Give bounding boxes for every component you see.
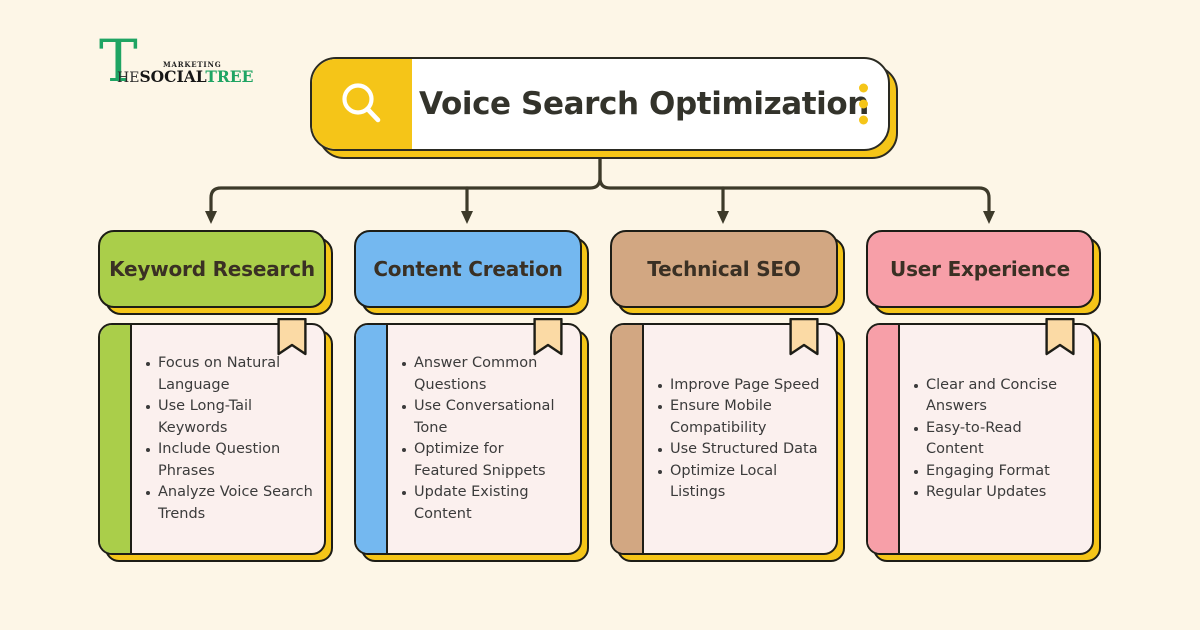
category-card[interactable]: User Experience (866, 230, 1101, 312)
search-icon-pane[interactable] (312, 59, 412, 149)
list-card: Improve Page Speed Ensure Mobile Compati… (610, 323, 845, 561)
category-card[interactable]: Technical SEO (610, 230, 845, 312)
list-spine (612, 325, 644, 553)
list-item: Include Question Phrases (158, 439, 314, 482)
arrow-head (205, 211, 217, 224)
header-body: Voice Search Optimization (310, 57, 890, 151)
logo-wordmark: HESOCIALTREE (117, 69, 253, 86)
list-item: Ensure Mobile Compatibility (670, 396, 826, 439)
list-item: Engaging Format (926, 461, 1082, 483)
logo-word-the: HE (117, 70, 139, 86)
category-label: Content Creation (373, 257, 562, 281)
list-item: Use Long-Tail Keywords (158, 396, 314, 439)
bullet-list: Improve Page Speed Ensure Mobile Compati… (652, 375, 826, 504)
dot (859, 116, 868, 125)
list-item: Optimize for Featured Snippets (414, 439, 570, 482)
category-face: Keyword Research (98, 230, 326, 308)
category-face: Technical SEO (610, 230, 838, 308)
header-search-bar[interactable]: Voice Search Optimization (310, 57, 890, 155)
category-card[interactable]: Keyword Research (98, 230, 333, 312)
category-label: Technical SEO (647, 257, 800, 281)
brand-logo: T MARKETING HESOCIALTREE (95, 33, 213, 89)
list-item: Easy-to-Read Content (926, 418, 1082, 461)
logo-word-social: SOCIAL (139, 67, 205, 86)
header-title-pane: Voice Search Optimization (412, 59, 888, 149)
list-item: Clear and Concise Answers (926, 375, 1082, 418)
list-items-pane: Clear and Concise Answers Easy-to-Read C… (900, 325, 1092, 553)
category-face: User Experience (866, 230, 1094, 308)
list-item: Update Existing Content (414, 482, 570, 525)
list-item: Improve Page Speed (670, 375, 826, 397)
list-card: Answer Common Questions Use Conversation… (354, 323, 589, 561)
list-card: Clear and Concise Answers Easy-to-Read C… (866, 323, 1101, 561)
bullet-list: Focus on Natural Language Use Long-Tail … (140, 353, 314, 525)
arrow-head (461, 211, 473, 224)
category-card[interactable]: Content Creation (354, 230, 589, 312)
column-user-experience: User Experience Clear and Concise Answer… (866, 230, 1101, 561)
list-items-pane: Answer Common Questions Use Conversation… (388, 325, 580, 553)
list-items-pane: Focus on Natural Language Use Long-Tail … (132, 325, 324, 553)
list-item: Use Structured Data (670, 439, 826, 461)
bookmark-icon (533, 318, 563, 356)
page-title: Voice Search Optimization (419, 86, 869, 122)
category-face: Content Creation (354, 230, 582, 308)
arrow-head (717, 211, 729, 224)
list-face: Answer Common Questions Use Conversation… (354, 323, 582, 555)
bookmark-icon (789, 318, 819, 356)
list-face: Clear and Concise Answers Easy-to-Read C… (866, 323, 1094, 555)
dot (859, 100, 868, 109)
list-spine (356, 325, 388, 553)
list-spine (868, 325, 900, 553)
bookmark-icon (277, 318, 307, 356)
category-label: User Experience (890, 257, 1070, 281)
search-icon (336, 78, 388, 130)
category-label: Keyword Research (109, 257, 315, 281)
bullet-list: Clear and Concise Answers Easy-to-Read C… (908, 375, 1082, 504)
list-card: Focus on Natural Language Use Long-Tail … (98, 323, 333, 561)
arrow-head (983, 211, 995, 224)
logo-word-tree: TREE (205, 67, 253, 86)
list-item: Regular Updates (926, 482, 1082, 504)
list-item: Answer Common Questions (414, 353, 570, 396)
bookmark-icon (1045, 318, 1075, 356)
list-face: Improve Page Speed Ensure Mobile Compati… (610, 323, 838, 555)
list-spine (100, 325, 132, 553)
three-dots-vertical-icon[interactable] (859, 84, 868, 125)
column-content-creation: Content Creation Answer Common Questions… (354, 230, 589, 561)
dot (859, 84, 868, 93)
list-item: Analyze Voice Search Trends (158, 482, 314, 525)
column-technical-seo: Technical SEO Improve Page Speed Ensure … (610, 230, 845, 561)
bullet-list: Answer Common Questions Use Conversation… (396, 353, 570, 525)
list-item: Optimize Local Listings (670, 461, 826, 504)
list-items-pane: Improve Page Speed Ensure Mobile Compati… (644, 325, 836, 553)
list-item: Use Conversational Tone (414, 396, 570, 439)
column-keyword-research: Keyword Research Focus on Natural Langua… (98, 230, 333, 561)
list-item: Focus on Natural Language (158, 353, 314, 396)
list-face: Focus on Natural Language Use Long-Tail … (98, 323, 326, 555)
